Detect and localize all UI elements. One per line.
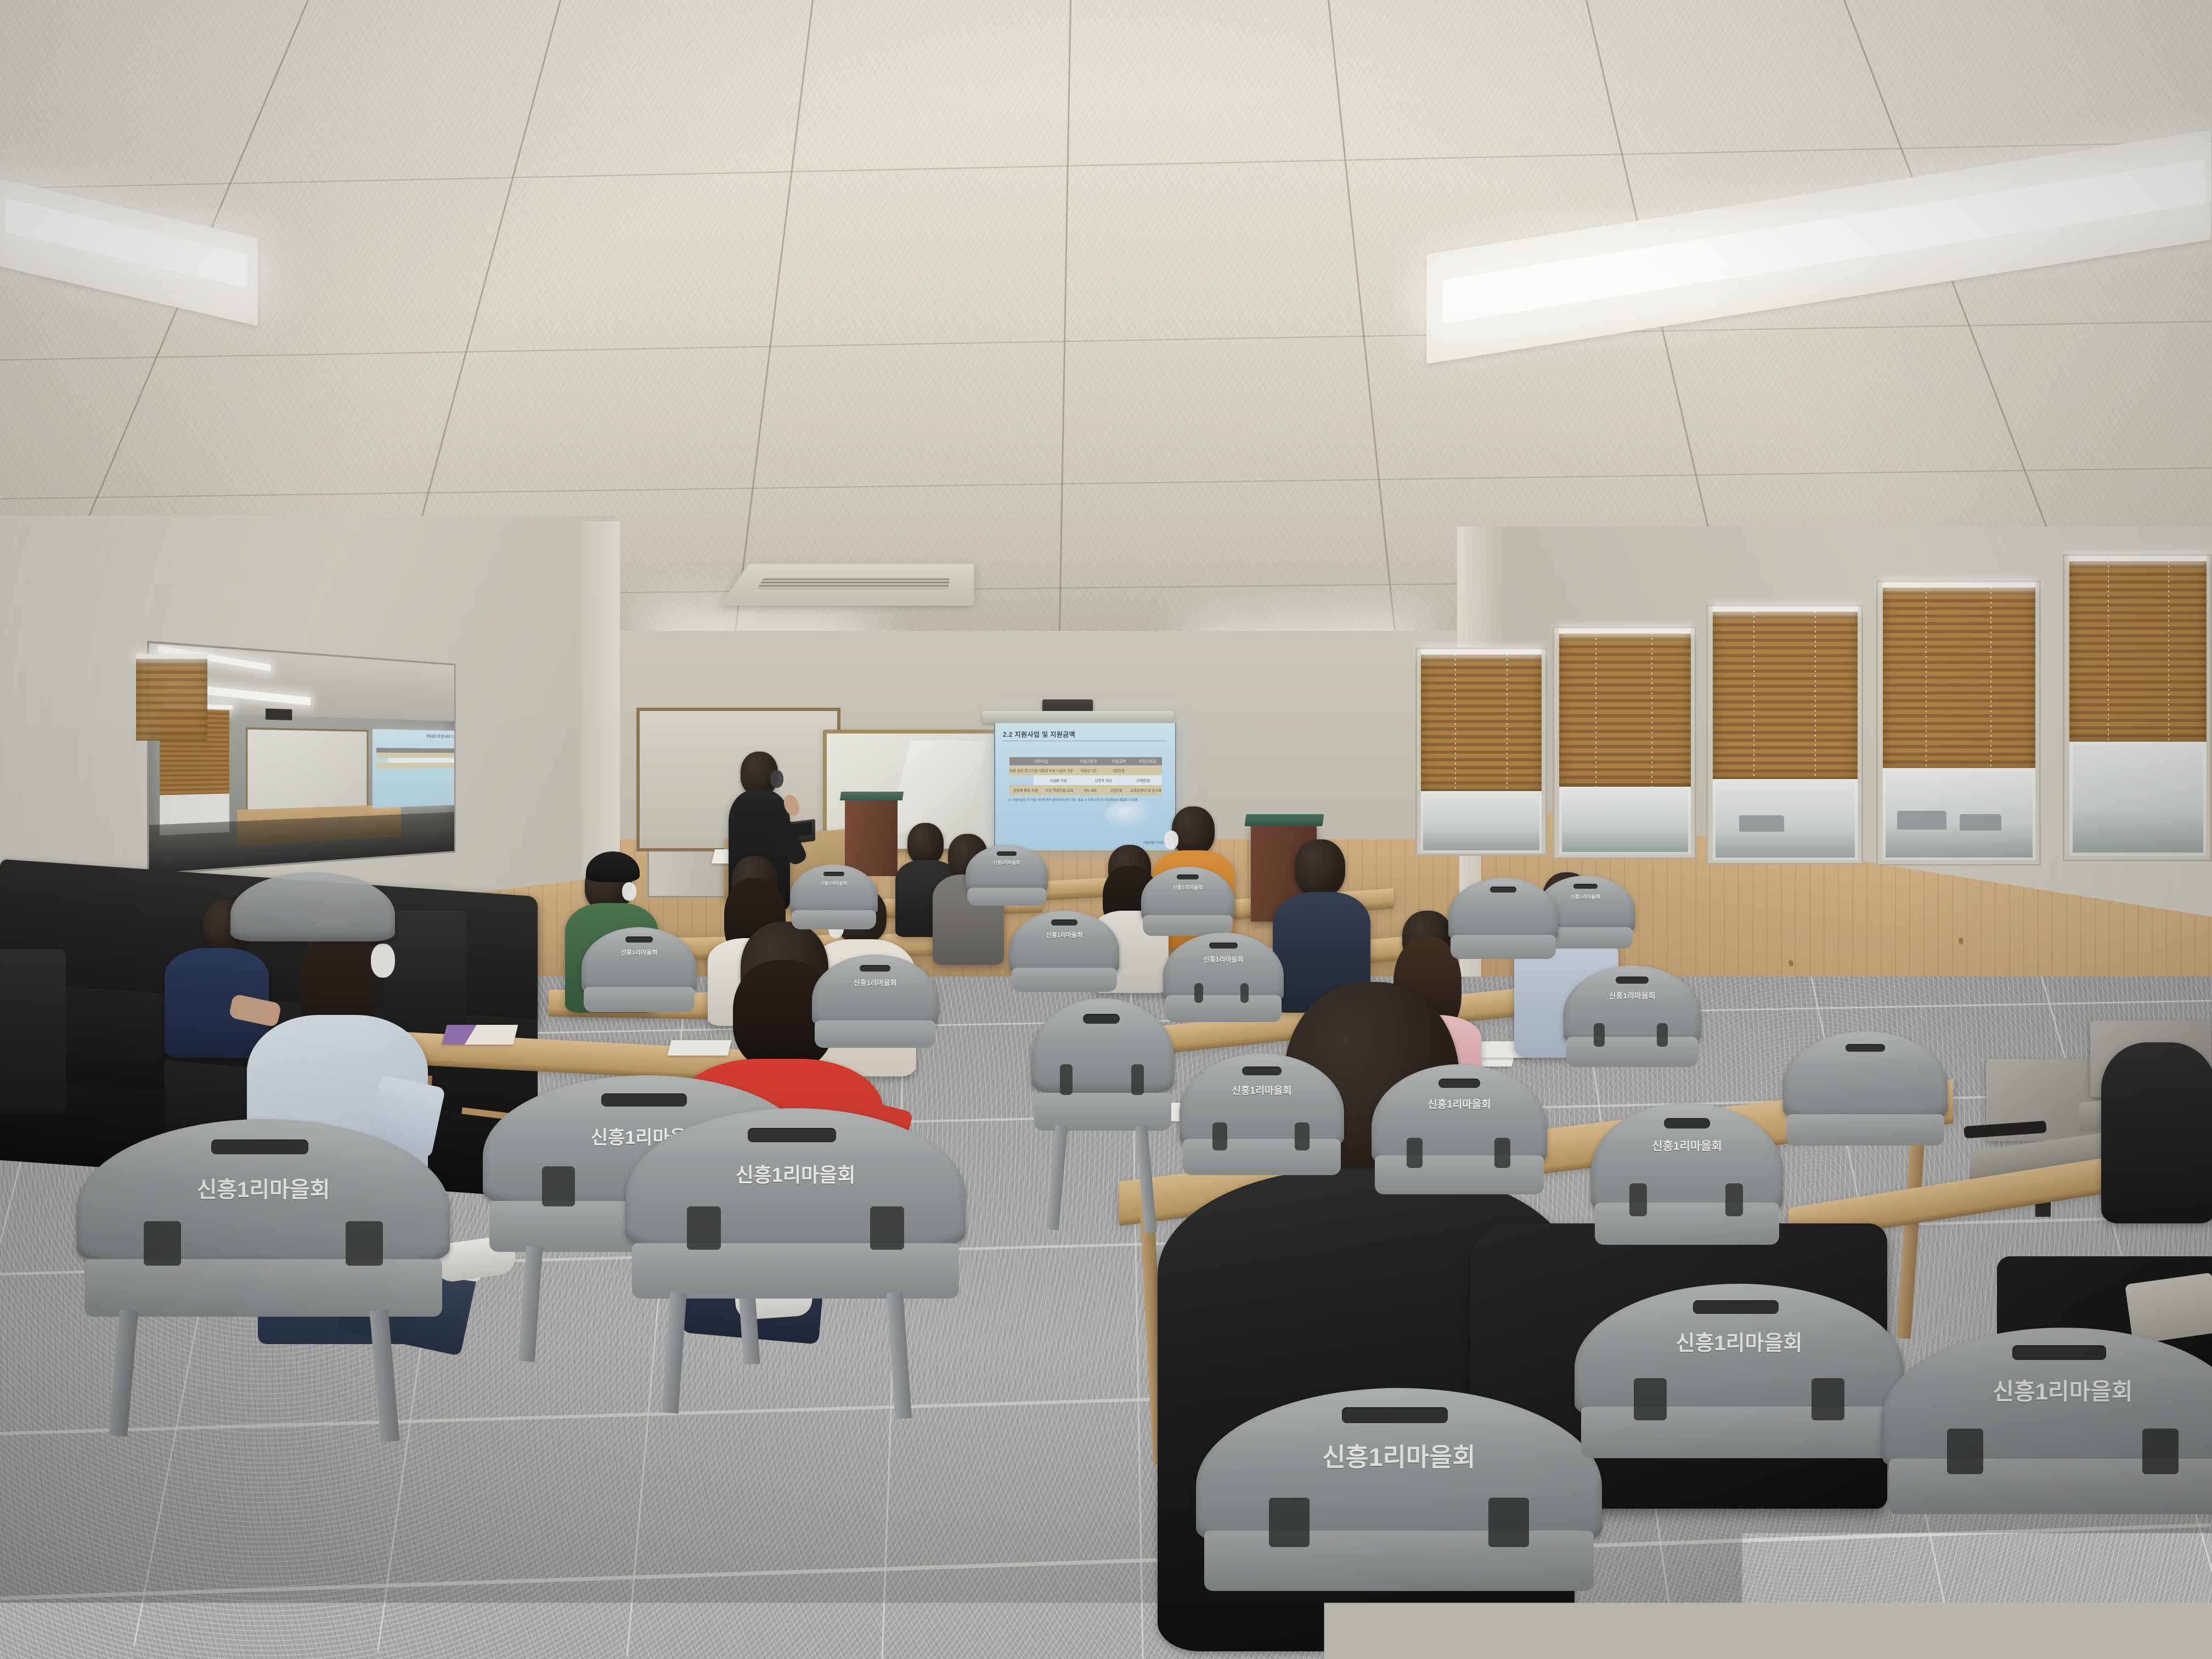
slide-table-row: 마을 공동 창고지원 사업 최대 부속 시설비 지원 마을당 1건 3천만원 xyxy=(1009,765,1162,775)
window-blind-2 xyxy=(1883,587,2035,768)
person-attendee-10 xyxy=(1273,839,1370,1004)
chair-label: 신흥1리마을회 xyxy=(1427,1096,1491,1111)
chair-front-left-3[interactable]: 신흥1리마을회 xyxy=(625,1108,966,1415)
slide-table: 지원사업 지원기준수 지원금액 지원신청금 마을 공동 창고지원 사업 최대 부… xyxy=(1009,757,1162,795)
chair-r-far2[interactable] xyxy=(1783,1031,1948,1174)
chair-front-3[interactable]: 신흥1리마을회 xyxy=(1882,1328,2212,1580)
chair-label: 신흥1리마을회 xyxy=(1571,893,1601,900)
chair-r-far[interactable] xyxy=(1448,878,1558,988)
chair-label: 신흥1리마을회 xyxy=(854,977,897,988)
document-purple xyxy=(442,1025,518,1045)
window-glass-3 xyxy=(1713,779,1858,860)
chair-label: 신흥1리마을회 xyxy=(1609,990,1655,1001)
window-blind-left xyxy=(136,658,207,741)
chair-label: 신흥1리마을회 xyxy=(821,881,848,887)
chair-r2[interactable]: 신흥1리마을회 xyxy=(1372,1064,1547,1240)
projection-screen: 2.2 지원사업 및 지원금액 지원사업 지원기준수 지원금액 지원신청금 마을… xyxy=(994,723,1176,850)
chair-r1[interactable]: 신흥1리마을회 xyxy=(1180,1053,1344,1218)
chair-r3[interactable]: 신흥1리마을회 xyxy=(1591,1103,1783,1295)
photo-scene: 2.2 지원사업 및 지원금액 2.2 지원사업 및 지원금액 지원사업 지원기… xyxy=(0,0,2212,1659)
chair-label: 신흥1리마을회 xyxy=(1676,1326,1803,1356)
slide-note: ※ 지원사업은 각 마을 여건에 따라 협의하여 선정 가능, 필요 시 항목 … xyxy=(1008,798,1137,802)
chair-label: 신흥1리마을회 xyxy=(1322,1437,1476,1474)
chair-front-left-1[interactable]: 신흥1리마을회 xyxy=(77,1119,450,1437)
chair-front-2[interactable]: 신흥1리마을회 xyxy=(1575,1284,1904,1520)
chair-front-1[interactable]: 신흥1리마을회 xyxy=(1196,1388,1602,1659)
window-glass-5 xyxy=(1421,791,1542,853)
chair-label: 신흥1리마을회 xyxy=(196,1172,330,1204)
slide-table-row: 시설물 지원 신청후 대상 10백만원 xyxy=(1034,775,1162,785)
slide-table-row: 공동체 활동 지원 주민 역량강화 교육 연5~6회 2천만원 교육운영비 및 … xyxy=(1009,785,1162,795)
chair-label: 신흥1리마을회 xyxy=(1046,930,1083,939)
chair-label: 신흥1리마을회 xyxy=(1232,1083,1291,1097)
window-glass-4 xyxy=(1559,787,1691,855)
chair-label: 신흥1리마을회 xyxy=(1993,1373,2132,1407)
slide-table-header: 지원사업 지원기준수 지원금액 지원신청금 xyxy=(1009,757,1162,765)
slide-title: 2.2 지원사업 및 지원금액 xyxy=(1003,730,1075,739)
mirror-screen-reflection: 2.2 지원사업 및 지원금액 xyxy=(373,729,455,808)
window-blind-4 xyxy=(1559,633,1691,787)
chair-b6[interactable]: 신흥1리마을회 xyxy=(1163,933,1284,1053)
window-blind-5 xyxy=(1421,654,1542,791)
chair-b4[interactable]: 신흥1리마을회 xyxy=(790,865,878,952)
chair-label: 신흥1리마을회 xyxy=(736,1159,856,1188)
chair-l1[interactable]: 신흥1리마을회 xyxy=(582,927,697,1042)
chair-label: 신흥1리마을회 xyxy=(994,860,1020,866)
projection-screen-housing xyxy=(982,711,1174,723)
air-conditioner-unit xyxy=(720,563,975,606)
window-glass-2 xyxy=(1883,768,2035,860)
chair-label: 신흥1리마을회 xyxy=(1173,884,1203,891)
mirror-slide-title-reflected: 2.2 지원사업 및 지원금액 xyxy=(427,734,456,740)
chair-aisle[interactable] xyxy=(1031,998,1174,1234)
person-attendee-14 xyxy=(2101,1042,2212,1223)
chair-b7[interactable]: 신흥1리마을회 xyxy=(1564,966,1701,1103)
chair-left-back[interactable] xyxy=(230,872,395,971)
chair-label: 신흥1리마을회 xyxy=(1204,955,1244,964)
window-blind-3 xyxy=(1713,611,1858,779)
chair-label: 신흥1리마을회 xyxy=(1652,1137,1722,1154)
window-glass-1 xyxy=(2069,742,2207,856)
chair-label: 신흥1리마을회 xyxy=(621,948,658,957)
window-blind-1 xyxy=(2069,561,2207,742)
chair-l2[interactable]: 신흥1리마을회 xyxy=(812,955,938,1081)
